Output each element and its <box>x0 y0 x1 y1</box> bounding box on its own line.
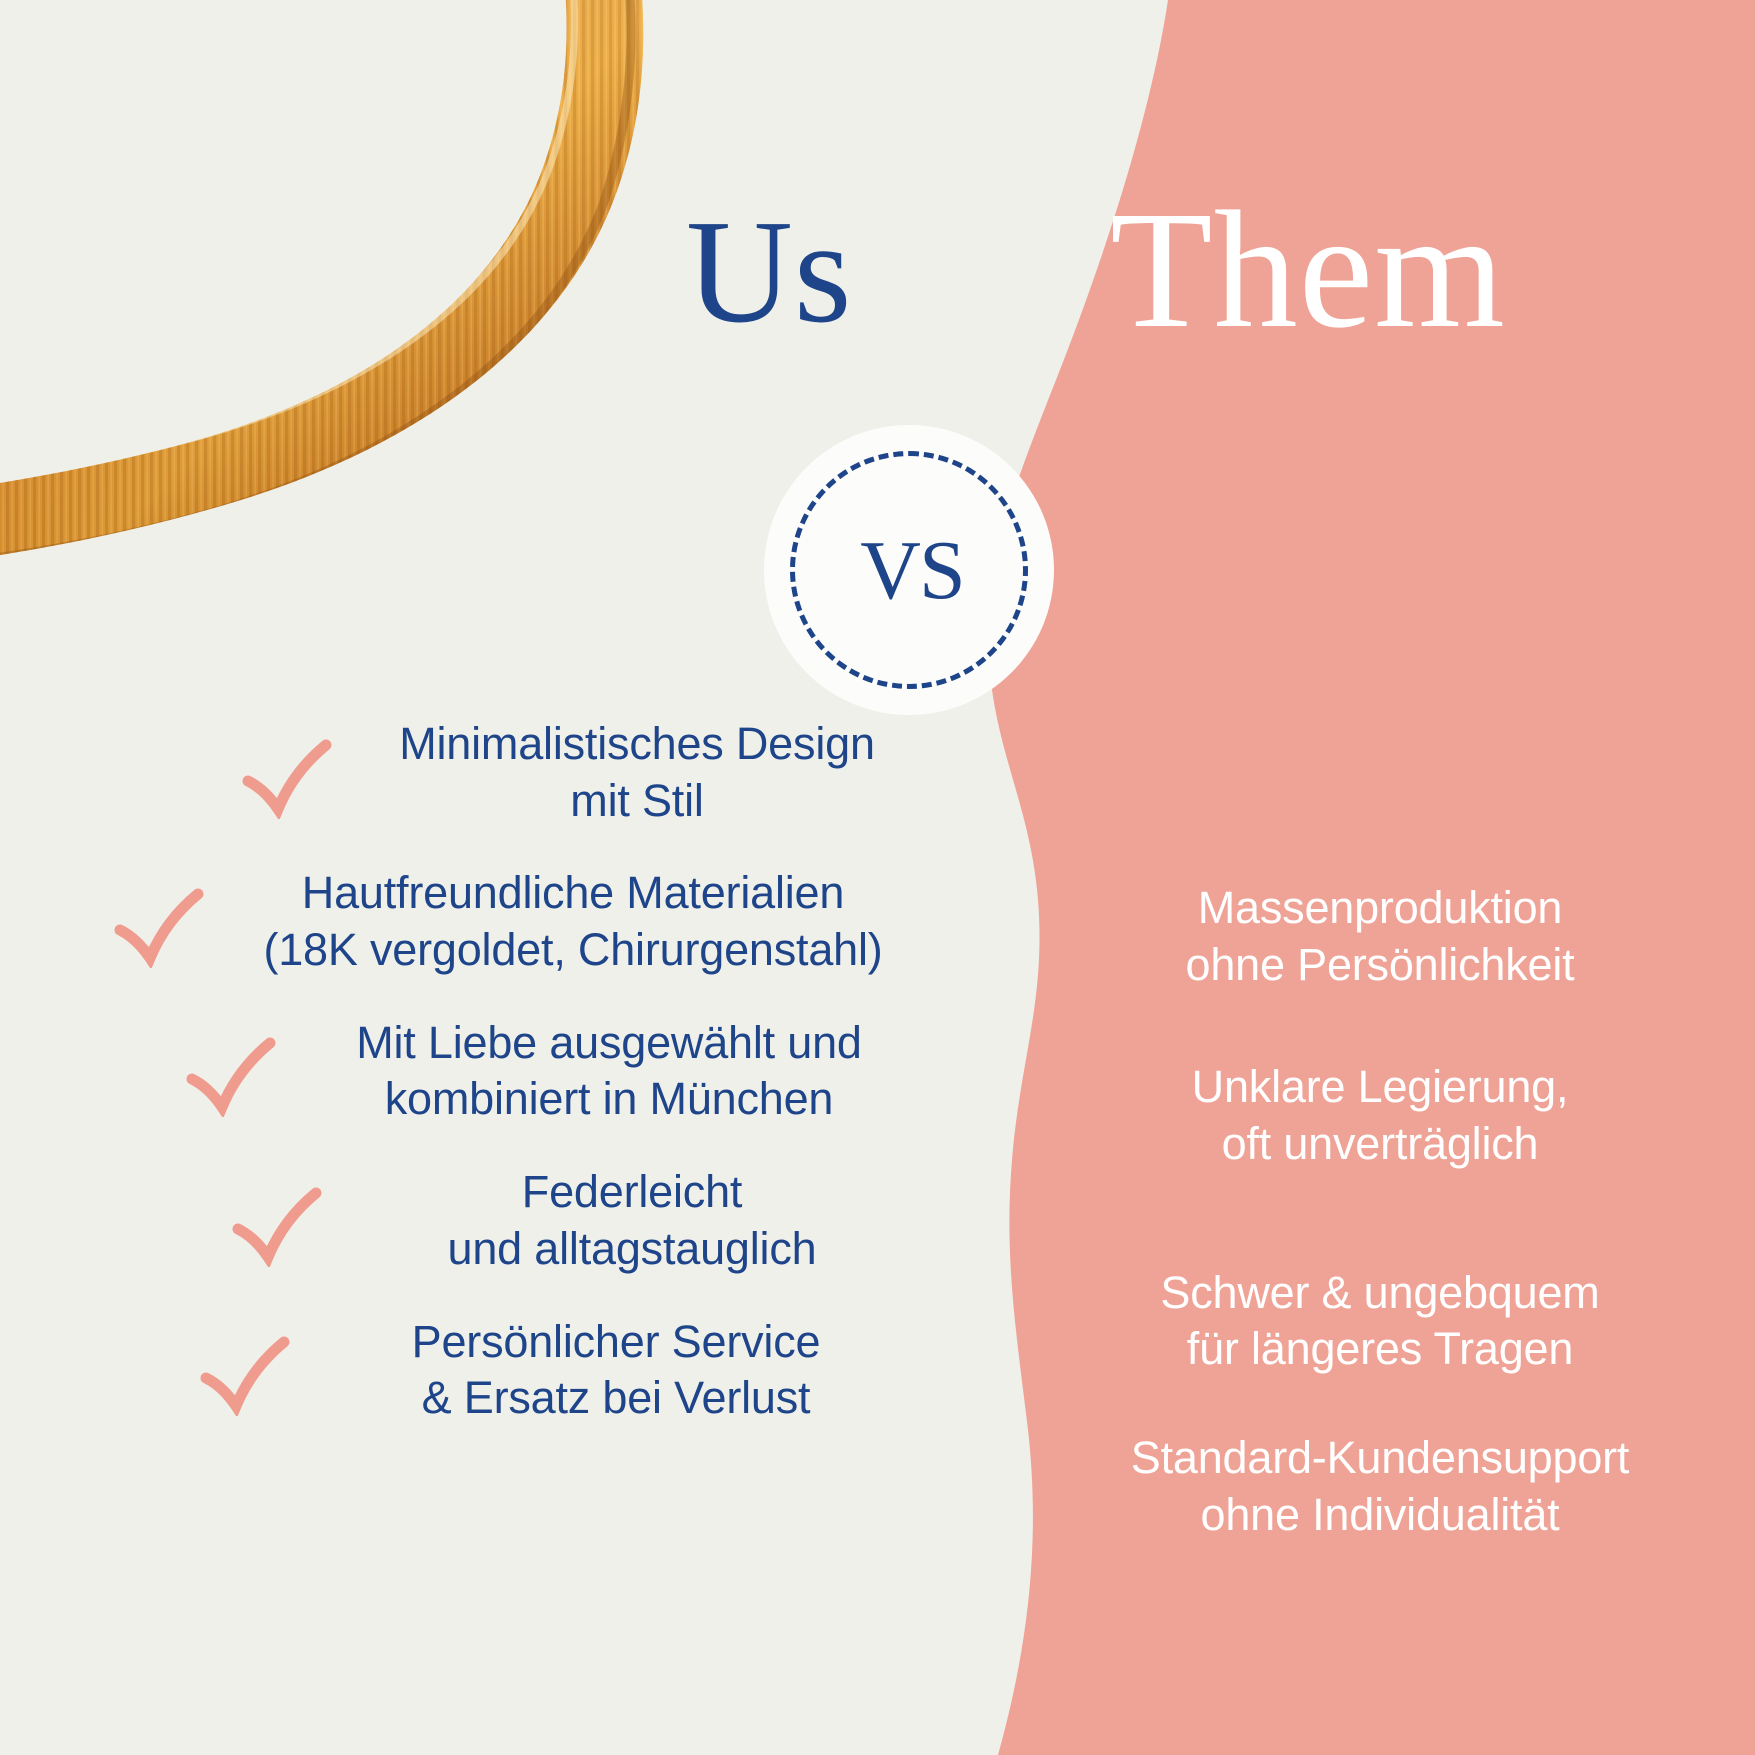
heading-us: Us <box>686 198 852 346</box>
vs-label: VS <box>764 425 1054 715</box>
check-icon <box>228 1175 324 1267</box>
list-item-label: Persönlicher Service & Ersatz bei Verlus… <box>292 1314 940 1427</box>
comparison-graphic: Us Them VS Minimalistisches Design mit S… <box>0 0 1755 1755</box>
list-item-label: Minimalistisches Design mit Stil <box>334 716 940 829</box>
list-item: Schwer & ungebquem für längeres Tragen <box>1040 1265 1720 1378</box>
them-drawbacks-list: Massenproduktion ohne Persönlichkeit Unk… <box>1040 880 1720 1610</box>
vs-badge: VS <box>764 425 1054 715</box>
list-item: Federleicht und alltagstauglich <box>228 1164 940 1277</box>
check-icon <box>182 1025 278 1117</box>
check-icon <box>110 876 206 968</box>
list-item: Persönlicher Service & Ersatz bei Verlus… <box>196 1314 940 1427</box>
list-item-label: Federleicht und alltagstauglich <box>324 1164 940 1277</box>
list-item: Minimalistisches Design mit Stil <box>238 716 940 829</box>
list-item: Hautfreundliche Materialien (18K vergold… <box>110 865 940 978</box>
list-item-label: Hautfreundliche Materialien (18K vergold… <box>206 865 940 978</box>
list-item: Mit Liebe ausgewählt und kombiniert in M… <box>182 1015 940 1128</box>
list-item: Unklare Legierung, oft unverträglich <box>1040 1059 1720 1172</box>
heading-them: Them <box>1110 186 1506 354</box>
list-item: Massenproduktion ohne Persönlichkeit <box>1040 880 1720 993</box>
us-benefits-list: Minimalistisches Design mit Stil Hautfre… <box>110 716 940 1463</box>
check-icon <box>196 1324 292 1416</box>
check-icon <box>238 727 334 819</box>
list-item: Standard-Kundensupport ohne Individualit… <box>1040 1430 1720 1543</box>
list-item-label: Mit Liebe ausgewählt und kombiniert in M… <box>278 1015 940 1128</box>
